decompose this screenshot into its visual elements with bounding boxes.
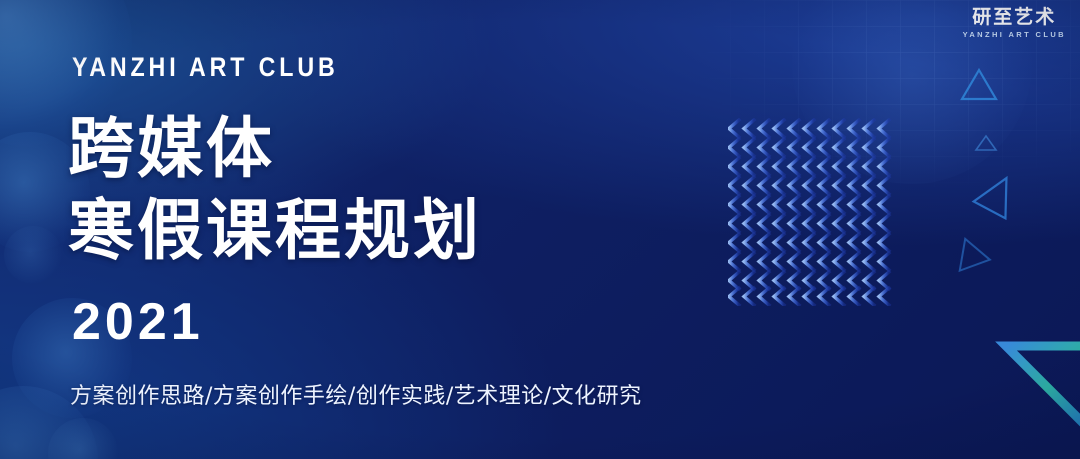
banner-root: 研至艺术 YANZHI ART CLUB YANZHI ART CLUB 跨媒体… <box>0 0 1080 459</box>
vignette-overlay <box>0 0 1080 459</box>
